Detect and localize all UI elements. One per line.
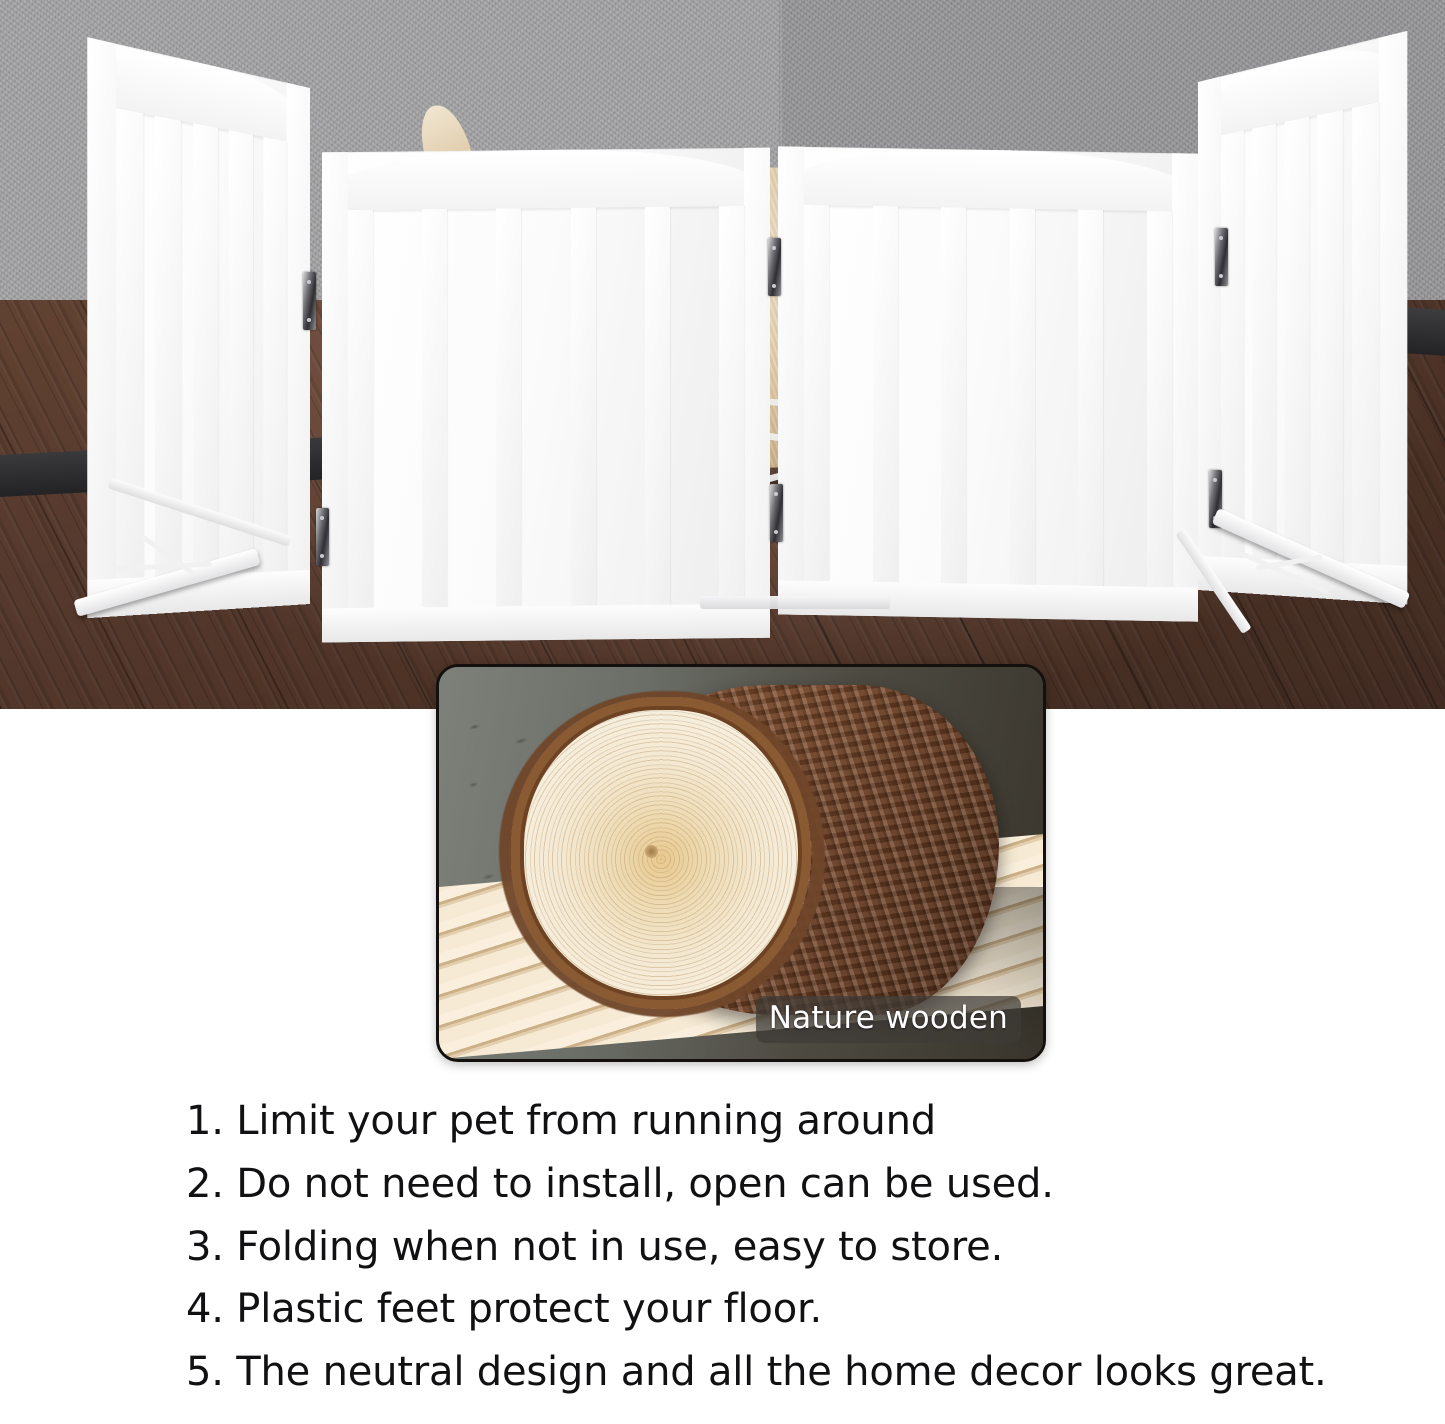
gate-slat bbox=[1010, 208, 1035, 584]
gate-slat bbox=[1078, 210, 1103, 586]
gate-slat bbox=[422, 209, 447, 607]
plastic-foot-right bbox=[1160, 512, 1430, 622]
gate-slat bbox=[1221, 130, 1244, 558]
gate-panel-4-slats bbox=[1221, 102, 1379, 564]
gate-slat bbox=[941, 207, 966, 583]
gate-slat bbox=[571, 207, 596, 605]
gate-panel-3-stile-left bbox=[778, 146, 804, 614]
feature-list: 1. Limit your pet from running around 2.… bbox=[0, 1090, 1445, 1404]
gate-slat bbox=[263, 137, 286, 572]
gate-slat bbox=[116, 108, 143, 579]
foot-web-rib bbox=[137, 532, 197, 577]
feature-item-2: 2. Do not need to install, open can be u… bbox=[186, 1153, 1445, 1216]
gate-slat bbox=[1317, 110, 1343, 563]
gate-slat bbox=[1284, 117, 1309, 561]
gate-slat bbox=[229, 130, 253, 574]
gate-slat bbox=[804, 205, 829, 581]
gate-slat bbox=[719, 206, 744, 604]
feature-item-3: 3. Folding when not in use, easy to stor… bbox=[186, 1216, 1445, 1279]
gate-slat bbox=[496, 208, 521, 606]
feature-item-4: 4. Plastic feet protect your floor. bbox=[186, 1278, 1445, 1341]
gate-slat bbox=[1252, 124, 1276, 560]
gate-panel-2-bottom-rail bbox=[322, 604, 770, 643]
gate-hinge-1 bbox=[303, 272, 316, 330]
gate-bottom-edge-shadow bbox=[700, 596, 890, 609]
gate-slat bbox=[348, 210, 373, 608]
gate-panel-2-slats bbox=[348, 206, 744, 608]
foot-diagonal-brace bbox=[1175, 528, 1251, 634]
gate-panel-2-stile-right bbox=[744, 148, 770, 638]
nature-wooden-caption: Nature wooden bbox=[756, 996, 1021, 1043]
feature-item-5: 5. The neutral design and all the home d… bbox=[186, 1341, 1445, 1404]
gate-panel-3 bbox=[778, 146, 1198, 621]
gate-hinge-5 bbox=[1215, 228, 1228, 286]
gate-slat bbox=[645, 207, 670, 605]
gate-slat bbox=[873, 206, 898, 582]
gate-hinge-3 bbox=[768, 238, 781, 296]
inset-log-photo: Nature wooden bbox=[436, 664, 1046, 1062]
plastic-foot-left bbox=[72, 520, 332, 600]
gate-panel-2 bbox=[322, 148, 770, 643]
hero-product-photo bbox=[0, 0, 1445, 709]
folding-pet-gate bbox=[0, 0, 1445, 709]
gate-hinge-4 bbox=[770, 484, 783, 542]
log-pith-center bbox=[645, 845, 658, 858]
gate-panel-3-slats bbox=[804, 205, 1172, 587]
log-cut-face-growth-rings bbox=[511, 697, 811, 1009]
feature-item-1: 1. Limit your pet from running around bbox=[186, 1090, 1445, 1153]
gate-slat bbox=[1352, 102, 1379, 564]
